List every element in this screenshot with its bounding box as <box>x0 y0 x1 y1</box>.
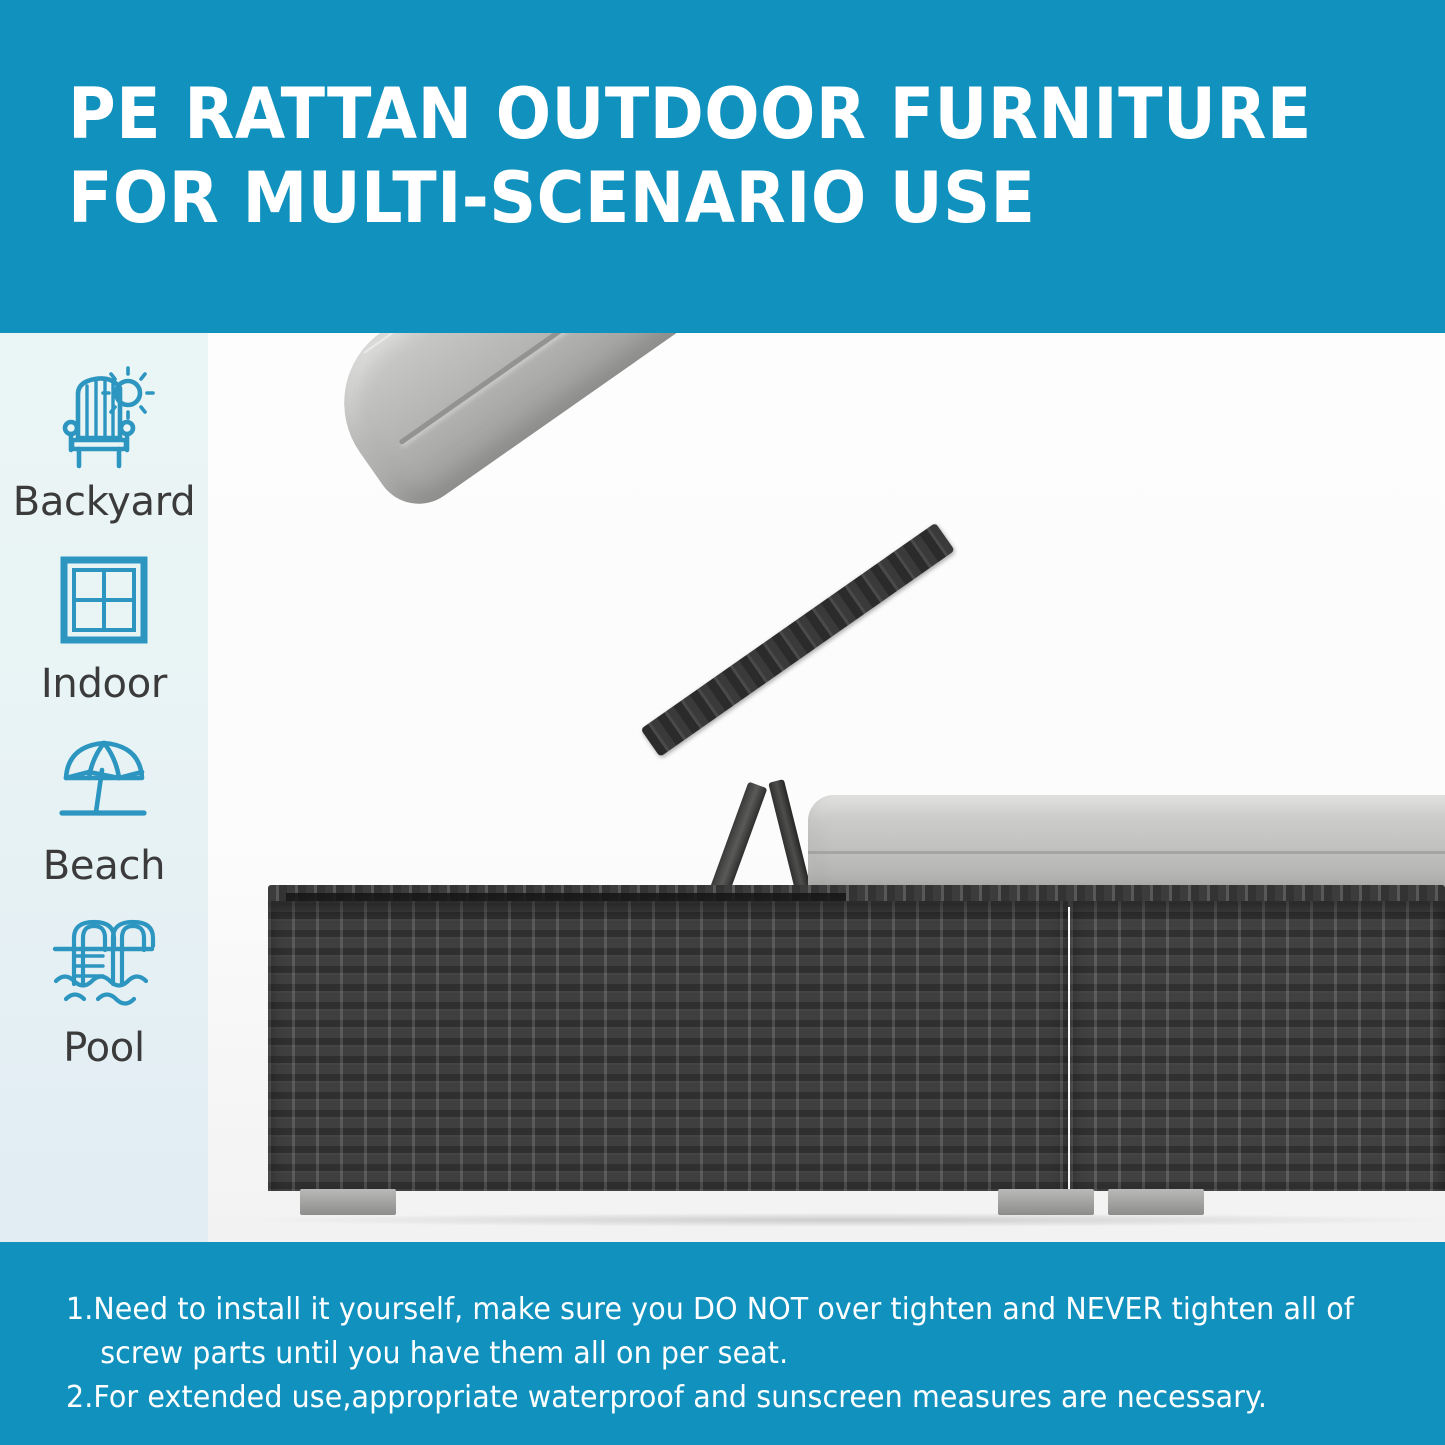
floor-shadow <box>248 1213 1445 1227</box>
note-line-2: screw parts until you have them all on p… <box>66 1332 1319 1376</box>
backrest-cushion <box>310 333 932 521</box>
rattan-base-right <box>1070 901 1445 1191</box>
sidebar-item-beach[interactable]: Beach <box>0 723 208 889</box>
notes-banner: 1.Need to install it yourself, make sure… <box>0 1242 1445 1445</box>
product-photo <box>208 333 1445 1242</box>
note-line-3: 2.For extended use,appropriate waterproo… <box>66 1376 1319 1420</box>
sidebar-item-label-pool: Pool <box>63 1025 145 1071</box>
backrest-rattan-panel <box>640 523 954 757</box>
sidebar-item-label-indoor: Indoor <box>41 661 167 707</box>
metal-foot-right <box>1108 1189 1204 1215</box>
sidebar-item-label-beach: Beach <box>43 843 165 889</box>
header-banner: PE RATTAN OUTDOOR FURNITURE FOR MULTI-SC… <box>0 0 1445 333</box>
scenario-sidebar: Backyard Indoor <box>0 333 208 1242</box>
sidebar-item-pool[interactable]: Pool <box>0 905 208 1071</box>
sidebar-item-label-backyard: Backyard <box>13 479 196 525</box>
rattan-base-left <box>268 901 1068 1191</box>
sidebar-item-backyard[interactable]: Backyard <box>0 359 208 525</box>
metal-foot-left <box>300 1189 396 1215</box>
product-infographic: PE RATTAN OUTDOOR FURNITURE FOR MULTI-SC… <box>0 0 1445 1445</box>
pool-ladder-waves-icon <box>46 905 162 1023</box>
beach-umbrella-icon <box>46 723 162 841</box>
note-line-1: 1.Need to install it yourself, make sure… <box>66 1288 1319 1332</box>
window-four-pane-icon <box>46 541 162 659</box>
page-title-line-1: PE RATTAN OUTDOOR FURNITURE <box>68 72 1349 156</box>
sidebar-item-indoor[interactable]: Indoor <box>0 541 208 707</box>
product-photo-canvas <box>208 333 1445 1242</box>
metal-foot-center <box>998 1189 1094 1215</box>
adirondack-chair-sun-icon <box>46 359 162 477</box>
page-title-line-2: FOR MULTI-SCENARIO USE <box>68 156 1349 240</box>
